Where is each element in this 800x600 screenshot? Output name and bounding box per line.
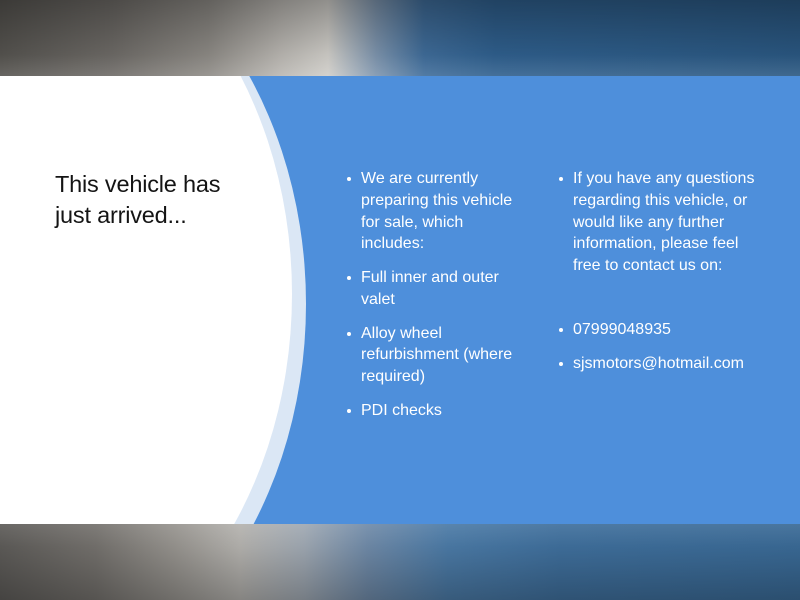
letterbox-bar-bottom — [0, 524, 800, 600]
contact-column: If you have any questions regarding this… — [556, 168, 756, 374]
title-block: This vehicle has just arrived... — [55, 169, 245, 231]
contact-bullet-list: If you have any questions regarding this… — [556, 168, 756, 374]
list-item: Alloy wheel refurbishment (where require… — [344, 323, 519, 388]
slide-viewer: This vehicle has just arrived... We are … — [0, 0, 800, 600]
letterbox-bar-top — [0, 0, 800, 76]
list-item: Full inner and outer valet — [344, 267, 519, 311]
page-title: This vehicle has just arrived... — [55, 169, 245, 231]
presentation-slide: This vehicle has just arrived... We are … — [0, 76, 800, 524]
contact-phone-number[interactable]: 07999048935 — [556, 319, 756, 341]
list-spacer — [556, 289, 756, 319]
contact-email-address[interactable]: sjsmotors@hotmail.com — [556, 353, 756, 375]
decorative-white-shape — [0, 76, 292, 524]
services-column: We are currently preparing this vehicle … — [344, 168, 519, 422]
services-bullet-list: We are currently preparing this vehicle … — [344, 168, 519, 422]
list-item: We are currently preparing this vehicle … — [344, 168, 519, 255]
list-item: PDI checks — [344, 400, 519, 422]
list-item: If you have any questions regarding this… — [556, 168, 756, 277]
